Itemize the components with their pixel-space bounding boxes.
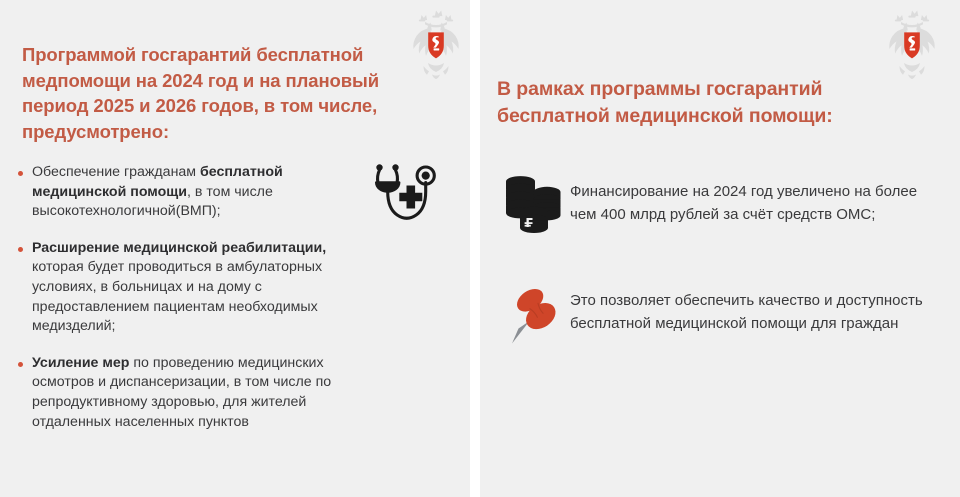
bullet-dot-icon <box>18 171 23 176</box>
left-panel: Программой госгарантий бесплатной медпом… <box>0 0 470 497</box>
stethoscope-icon <box>368 160 440 228</box>
coins-stack-icon <box>498 168 570 240</box>
list-item-text: Расширение медицинской реабилитации, кот… <box>32 239 374 337</box>
left-panel-heading: Программой госгарантий бесплатной медпом… <box>22 42 422 144</box>
right-panel-heading: В рамках программы госгарантий бесплатно… <box>497 76 927 130</box>
list-item-text: Это позволяет обеспечить качество и дост… <box>570 281 928 335</box>
list-item: Это позволяет обеспечить качество и дост… <box>498 281 928 353</box>
list-item: Финансирование на 2024 год увеличено на … <box>498 168 928 240</box>
bullet-dot-icon <box>18 247 23 252</box>
left-bullet-list: Обеспечение гражданам бесплатной медицин… <box>18 163 374 449</box>
slide-root: Программой госгарантий бесплатной медпом… <box>0 0 960 497</box>
bullet-dot-icon <box>18 362 23 367</box>
pushpin-icon <box>498 281 570 353</box>
list-item-text: Обеспечение гражданам бесплатной медицин… <box>32 163 374 222</box>
list-item-text: Финансирование на 2024 год увеличено на … <box>570 168 928 226</box>
list-item-text: Усиление мер по проведению медицинских о… <box>32 354 374 432</box>
list-item: Обеспечение гражданам бесплатной медицин… <box>18 163 374 222</box>
list-item: Расширение медицинской реабилитации, кот… <box>18 239 374 337</box>
list-item: Усиление мер по проведению медицинских о… <box>18 354 374 432</box>
ministry-of-health-emblem <box>884 8 940 82</box>
